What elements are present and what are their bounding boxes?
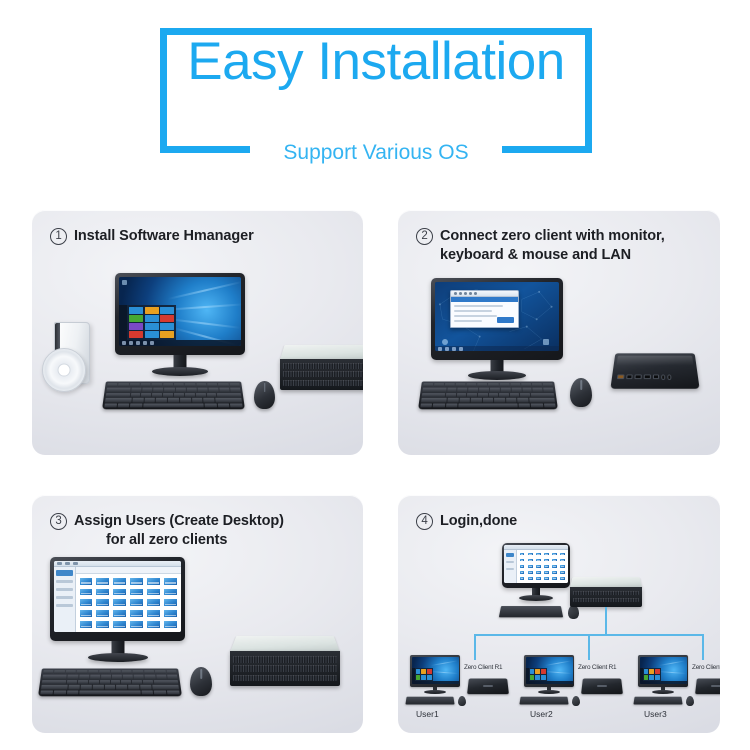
desktop-thumbnail: [112, 598, 127, 607]
start-menu-tiles: [127, 305, 176, 340]
header-bottom-left-segment: [160, 146, 250, 153]
monitor-base: [424, 690, 446, 694]
start-menu: [412, 668, 434, 681]
step-number-2: 2: [416, 228, 433, 245]
client-station-2: Zero Client R1 User2: [520, 655, 626, 725]
monitor-panel-1: [115, 273, 245, 368]
network-trunk-vertical: [605, 607, 607, 635]
client-keyboard: [633, 697, 682, 705]
start-menu-tiles: [415, 668, 434, 681]
port-audio: [661, 374, 665, 380]
windows-taskbar: [640, 681, 687, 684]
zero-client-device: [581, 679, 623, 695]
windows-taskbar: [119, 340, 241, 346]
client-station-1: Zero Client R1 User1: [406, 655, 512, 725]
port-usb-1: [635, 374, 642, 379]
dialog-titlebar: [451, 291, 518, 298]
desktop-thumbnail: [95, 577, 110, 586]
zero-client-desktop: [435, 282, 559, 351]
desktop-icon: [122, 280, 127, 285]
panel-2-title: 2Connect zero client with monitor, keybo…: [416, 227, 710, 265]
desktop-thumbnail: [146, 598, 161, 607]
client-mouse: [686, 696, 694, 706]
desktop-thumbnail: [112, 620, 127, 629]
user-label: User3: [644, 709, 667, 719]
windows-taskbar: [526, 681, 573, 684]
step-panel-3: 3Assign Users (Create Desktop) for all z…: [32, 495, 363, 733]
monitor-base: [652, 690, 674, 694]
monitor-screen: [435, 282, 559, 351]
step-number-1: 1: [50, 228, 67, 245]
desktop-thumbnail: [129, 588, 144, 597]
console-main-area: [76, 567, 181, 632]
zero-client-label: Zero Client R1: [692, 664, 720, 671]
start-menu-tiles: [529, 668, 548, 681]
windows-desktop-wallpaper: [412, 657, 459, 684]
rack-server-panel-4: [570, 573, 642, 607]
hmanager-console-mini: [504, 545, 568, 583]
desktop-thumbnail: [163, 620, 178, 629]
monitor-screen: [54, 561, 181, 632]
client-mouse: [458, 696, 466, 706]
desktop-thumbnail: [79, 588, 94, 597]
admin-mouse-panel-4: [568, 605, 579, 619]
dialog-ok-button[interactable]: [497, 317, 515, 324]
server-front-bays: [570, 587, 642, 607]
desktop-thumbnail: [146, 620, 161, 629]
keyboard-panel-1: [102, 381, 245, 409]
header-bottom-right-segment: [502, 146, 592, 153]
monitor-bezel: [638, 655, 688, 687]
desktop-thumbnail: [129, 620, 144, 629]
desktop-thumbnail: [163, 577, 178, 586]
page-title: Easy Installation: [160, 34, 592, 90]
monitor-bezel: [502, 543, 570, 588]
desktop-thumbnail: [79, 598, 94, 607]
desktop-thumbnail: [163, 609, 178, 618]
desktop-thumbnail: [129, 609, 144, 618]
desktop-network-icon: [543, 339, 549, 345]
start-menu: [526, 668, 548, 681]
zero-client-top-lid: [616, 356, 694, 366]
panel-1-title-text: Install Software Hmanager: [74, 228, 254, 244]
monitor-base: [538, 690, 560, 694]
windows-desktop-wallpaper: [640, 657, 687, 684]
zero-client-device-panel-2: [610, 353, 699, 388]
desktop-thumbnail: [129, 577, 144, 586]
hmanager-console: [54, 561, 181, 632]
dialog-body: [451, 302, 518, 328]
zero-client-taskbar: [435, 346, 559, 351]
admin-keyboard-panel-4: [499, 606, 563, 617]
monitor-bezel: [431, 278, 563, 360]
monitor-screen: [504, 545, 568, 583]
keyboard-panel-3: [38, 668, 182, 696]
desktop-thumbnail: [129, 598, 144, 607]
panel-4-title-text: Login,done: [440, 513, 517, 529]
monitor-screen: [526, 657, 573, 684]
desktop-thumbnail: [95, 620, 110, 629]
zero-client-label: Zero Client R1: [578, 664, 616, 671]
header-banner: Easy Installation Support Various OS: [160, 28, 592, 153]
user-label: User2: [530, 709, 553, 719]
step-number-3: 3: [50, 513, 67, 530]
monitor-screen: [119, 277, 241, 346]
console-sidebar: [54, 567, 76, 632]
console-main-area: [517, 550, 568, 583]
user-label: User1: [416, 709, 439, 719]
server-top-panel: [280, 345, 363, 360]
client-monitor: [410, 655, 460, 693]
windows-taskbar: [412, 681, 459, 684]
desktop-thumbnail: [146, 588, 161, 597]
client-station-3: Zero Client R1 User3: [634, 655, 720, 725]
monitor-panel-2: [431, 278, 563, 374]
client-mouse: [572, 696, 580, 706]
keyboard-panel-2: [418, 381, 558, 409]
desktop-thumbnail: [79, 620, 94, 629]
step-panel-1: 1Install Software Hmanager: [32, 210, 363, 455]
monitor-panel-3: [50, 557, 185, 657]
panel-3-title: 3Assign Users (Create Desktop) for all z…: [50, 512, 353, 550]
server-top-panel: [230, 636, 340, 653]
port-usb-2: [644, 374, 651, 379]
client-keyboard: [519, 697, 568, 705]
step-panel-4: 4Login,done: [398, 495, 720, 733]
desktop-thumbnail: [112, 609, 127, 618]
mouse-panel-1: [254, 381, 275, 409]
mouse-panel-3: [190, 667, 212, 696]
monitor-screen: [412, 657, 459, 684]
rack-server-panel-3: [230, 628, 340, 686]
port-power: [667, 374, 671, 380]
desktop-thumbnail: [79, 577, 94, 586]
step-panel-2: 2Connect zero client with monitor, keybo…: [398, 210, 720, 455]
desktop-thumbnail-grid: [76, 574, 181, 632]
monitor-base: [152, 367, 208, 376]
client-monitor: [638, 655, 688, 693]
mouse-panel-2: [570, 378, 592, 407]
client-keyboard: [405, 697, 454, 705]
desktop-thumbnail: [95, 598, 110, 607]
start-menu: [119, 305, 176, 340]
console-body: [54, 567, 181, 632]
monitor-bezel: [410, 655, 460, 687]
windows-desktop-wallpaper: [526, 657, 573, 684]
login-dialog[interactable]: [450, 290, 519, 329]
monitor-base: [88, 653, 148, 662]
server-front-bays: [280, 359, 363, 390]
desktop-thumbnail: [79, 609, 94, 618]
desktop-thumbnail-grid: [517, 550, 568, 583]
console-sidebar: [504, 550, 517, 583]
desktop-thumbnail: [95, 588, 110, 597]
client-monitor: [524, 655, 574, 693]
server-front-bays: [230, 651, 340, 686]
desktop-thumbnail: [163, 588, 178, 597]
windows-desktop-wallpaper: [119, 277, 241, 346]
start-menu-tiles: [643, 668, 662, 681]
rack-server-panel-1: [280, 338, 363, 390]
desktop-thumbnail: [146, 609, 161, 618]
panel-2-title-line1: Connect zero client with monitor,: [440, 228, 665, 244]
zero-client-device: [695, 679, 720, 695]
software-cd-disc: [42, 348, 86, 392]
monitor-base: [468, 371, 526, 380]
panel-3-title-line2: for all zero clients: [106, 531, 353, 550]
desktop-thumbnail: [112, 588, 127, 597]
desktop-thumbnail: [163, 598, 178, 607]
page-subtitle: Support Various OS: [273, 141, 478, 165]
monitor-base: [519, 595, 553, 601]
step-number-4: 4: [416, 513, 433, 530]
monitor-bezel: [115, 273, 245, 355]
zero-client-device: [467, 679, 509, 695]
port-lan: [653, 374, 660, 379]
desktop-thumbnail: [146, 577, 161, 586]
start-menu-rail: [119, 305, 127, 340]
port-usb-orange: [617, 374, 624, 379]
panel-4-title: 4Login,done: [416, 512, 710, 531]
port-vga: [626, 374, 633, 379]
zero-client-port-row: [617, 372, 694, 382]
zero-client-label: Zero Client R1: [464, 664, 502, 671]
panel-3-title-line1: Assign Users (Create Desktop): [74, 513, 284, 529]
monitor-bezel: [524, 655, 574, 687]
desktop-thumbnail: [95, 609, 110, 618]
monitor-screen: [640, 657, 687, 684]
server-top-panel: [570, 577, 642, 587]
monitor-bezel: [50, 557, 185, 641]
admin-monitor-panel-4: [502, 543, 570, 601]
panel-2-title-line2: keyboard & mouse and LAN: [440, 246, 710, 265]
console-body: [504, 550, 568, 583]
desktop-thumbnail: [112, 577, 127, 586]
start-menu: [640, 668, 662, 681]
panel-1-title: 1Install Software Hmanager: [50, 227, 353, 246]
